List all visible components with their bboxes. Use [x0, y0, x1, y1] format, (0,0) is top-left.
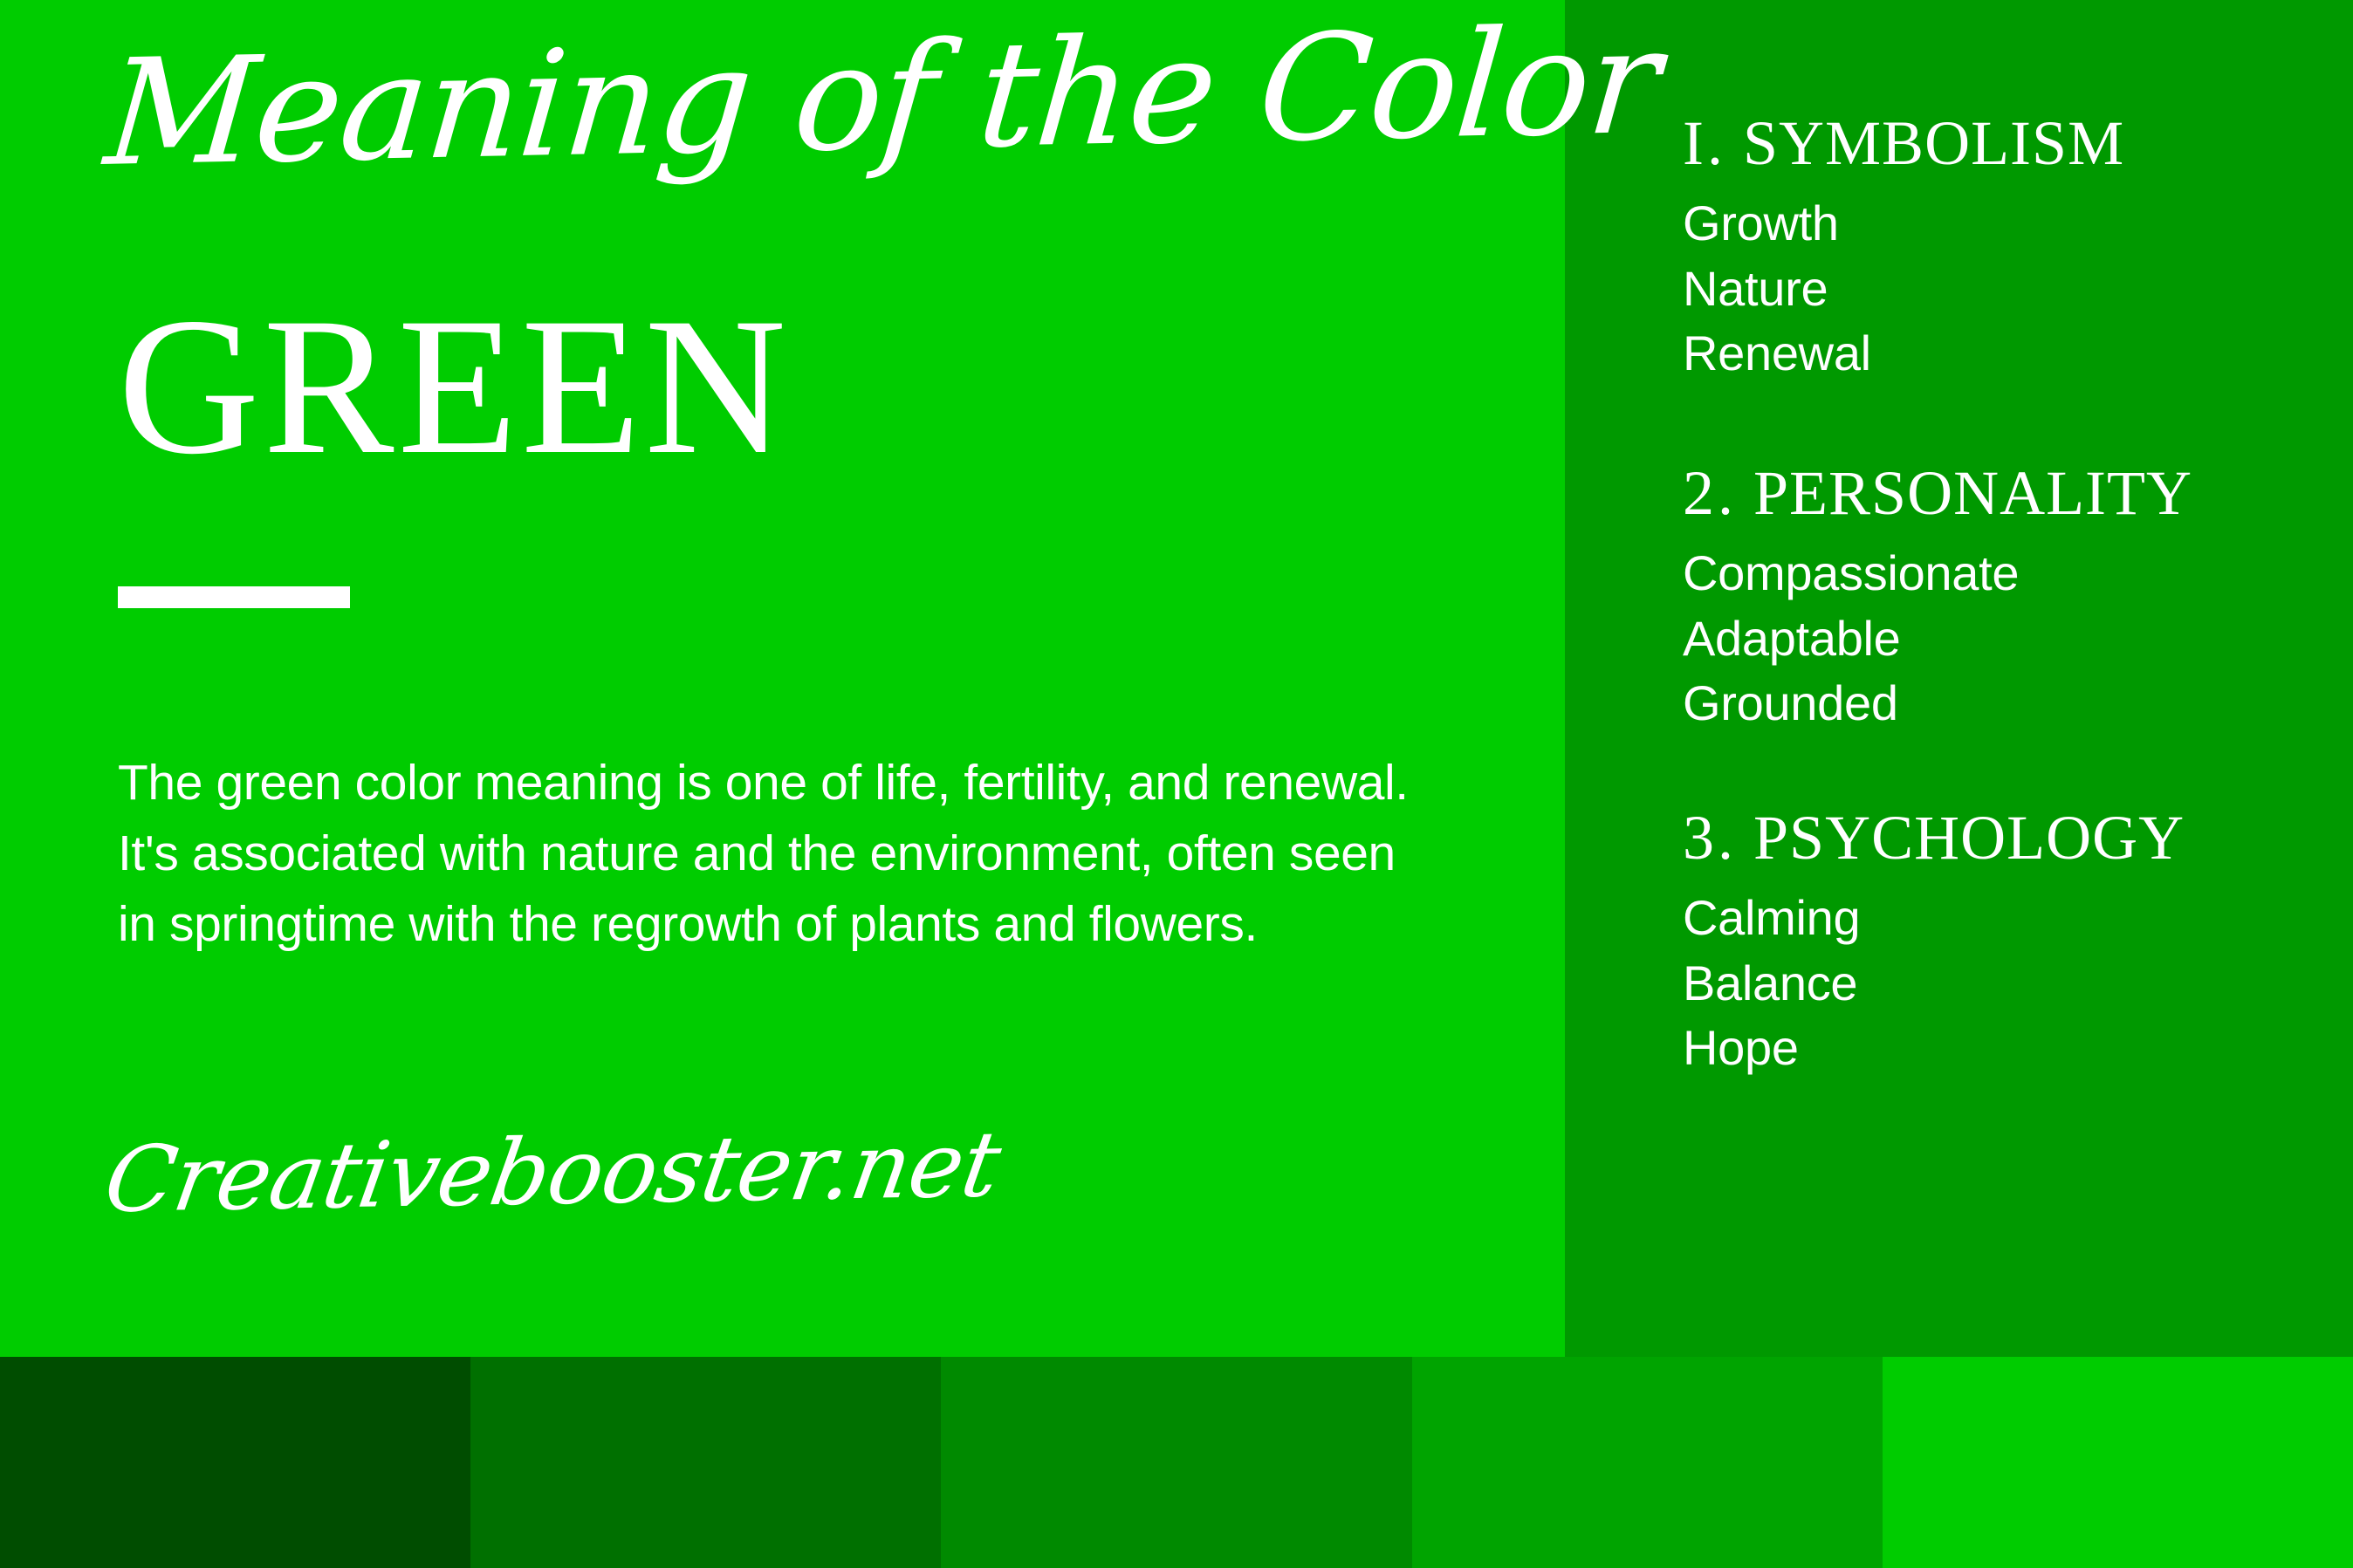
- poster-body: Meaning of the Color GREEN The green col…: [0, 0, 2353, 1357]
- section-psychology-number: 3.: [1683, 803, 1737, 873]
- section-personality: 2. PERSONALITY Compassionate Adaptable G…: [1683, 462, 2318, 736]
- section-symbolism-title: SYMBOLISM: [1743, 108, 2124, 178]
- section-personality-title: PERSONALITY: [1753, 458, 2192, 528]
- section-symbolism-number: I.: [1683, 108, 1726, 178]
- section-personality-list: Compassionate Adaptable Grounded: [1683, 541, 2318, 736]
- color-swatch: [1412, 1357, 1883, 1568]
- list-item: Balance: [1683, 951, 2318, 1016]
- section-personality-heading: 2. PERSONALITY: [1683, 462, 2318, 525]
- section-psychology-title: PSYCHOLOGY: [1753, 803, 2185, 873]
- page-title: GREEN: [118, 288, 790, 484]
- list-item: Compassionate: [1683, 541, 2318, 606]
- section-psychology-list: Calming Balance Hope: [1683, 886, 2318, 1080]
- section-symbolism: I. SYMBOLISM Growth Nature Renewal: [1683, 112, 2318, 387]
- body-paragraph: The green color meaning is one of life, …: [118, 748, 1444, 960]
- list-item: Adaptable: [1683, 606, 2318, 671]
- list-item: Nature: [1683, 257, 2318, 321]
- headline-script: Meaning of the Color: [100, 6, 1565, 190]
- section-symbolism-list: Growth Nature Renewal: [1683, 191, 2318, 386]
- color-meaning-poster: Meaning of the Color GREEN The green col…: [0, 0, 2353, 1568]
- attributes-sidebar: I. SYMBOLISM Growth Nature Renewal 2. PE…: [1565, 0, 2353, 1357]
- color-swatch: [1883, 1357, 2353, 1568]
- color-swatch-strip: [0, 1357, 2353, 1568]
- section-psychology-heading: 3. PSYCHOLOGY: [1683, 806, 2318, 870]
- section-symbolism-heading: I. SYMBOLISM: [1683, 112, 2318, 175]
- list-item: Growth: [1683, 191, 2318, 256]
- color-swatch: [941, 1357, 1411, 1568]
- left-content-panel: Meaning of the Color GREEN The green col…: [0, 0, 1565, 1357]
- list-item: Calming: [1683, 886, 2318, 950]
- color-swatch: [0, 1357, 470, 1568]
- list-item: Hope: [1683, 1016, 2318, 1080]
- title-underline-rule: [118, 586, 350, 608]
- list-item: Grounded: [1683, 671, 2318, 736]
- section-psychology: 3. PSYCHOLOGY Calming Balance Hope: [1683, 806, 2318, 1081]
- brand-logo-text: Creativebooster.net: [99, 1119, 1005, 1225]
- color-swatch: [470, 1357, 941, 1568]
- section-personality-number: 2.: [1683, 458, 1737, 528]
- list-item: Renewal: [1683, 321, 2318, 386]
